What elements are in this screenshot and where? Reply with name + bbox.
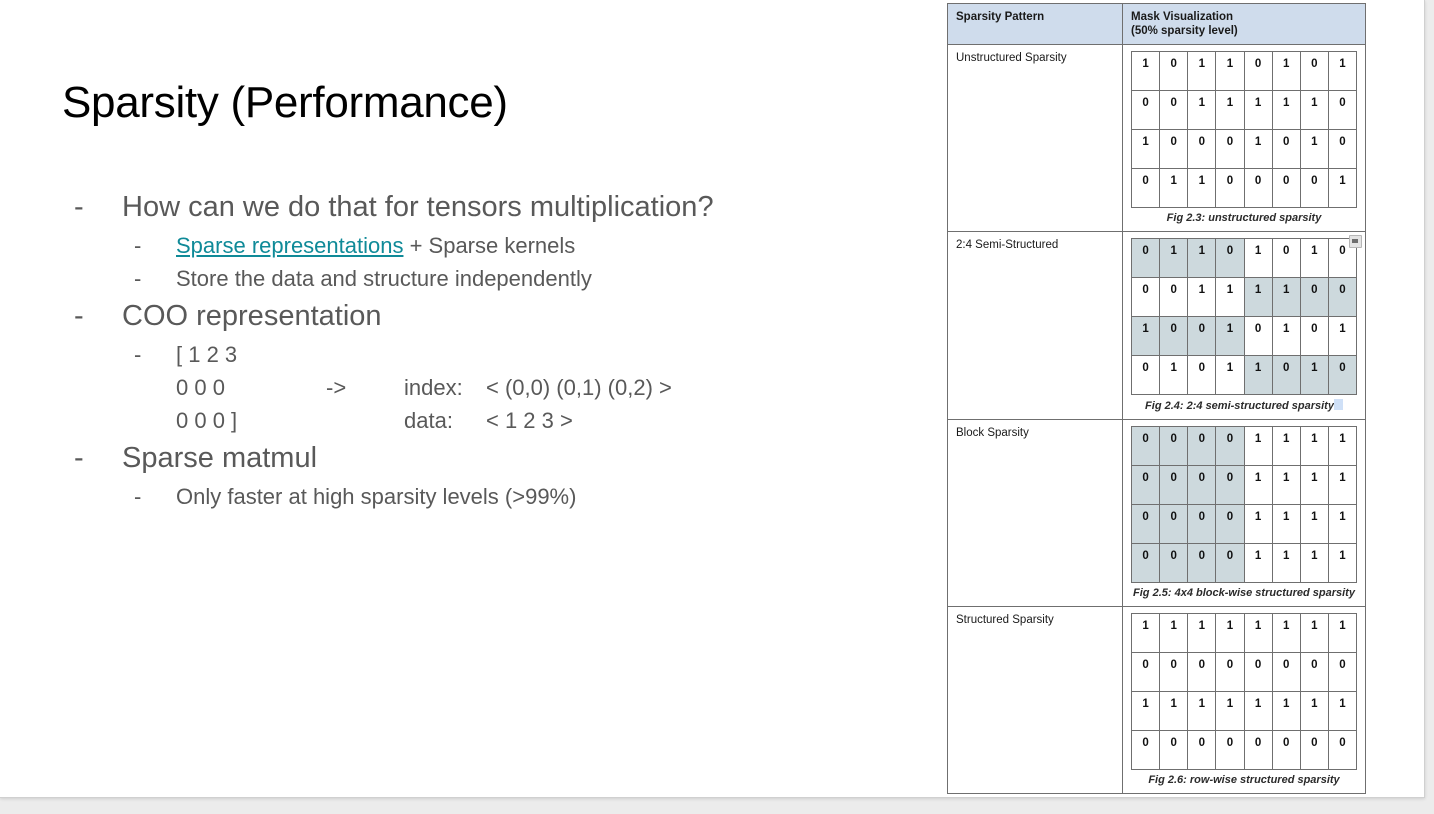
mask-cell-bit: 1 bbox=[1188, 91, 1216, 130]
mask-cell-bit: 0 bbox=[1328, 91, 1356, 130]
mask-matrix-row: 00000000 bbox=[1132, 653, 1357, 692]
mask-cell-bit: 0 bbox=[1300, 731, 1328, 770]
mask-cell-bit: 0 bbox=[1160, 91, 1188, 130]
pattern-name-cell: Unstructured Sparsity bbox=[948, 45, 1123, 232]
pattern-name-cell: Structured Sparsity bbox=[948, 607, 1123, 794]
mask-cell-bit: 1 bbox=[1272, 278, 1300, 317]
mask-cell-bit: 1 bbox=[1300, 427, 1328, 466]
mask-cell-bit: 1 bbox=[1188, 239, 1216, 278]
mask-cell-bit: 1 bbox=[1300, 130, 1328, 169]
mask-cell-bit: 1 bbox=[1244, 356, 1272, 395]
bullet-dash: - bbox=[74, 437, 122, 480]
mask-cell-bit: 1 bbox=[1272, 505, 1300, 544]
mask-cell-bit: 1 bbox=[1216, 278, 1244, 317]
bullet-dash: - bbox=[74, 295, 122, 338]
mask-cell-bit: 1 bbox=[1188, 52, 1216, 91]
coo-matrix-text: 0 0 0 ] bbox=[176, 404, 326, 437]
figure-caption-text: Fig 2.6: row-wise structured sparsity bbox=[1148, 774, 1339, 786]
mask-matrix-row: 00111100 bbox=[1132, 278, 1357, 317]
mask-cell-bit: 0 bbox=[1132, 653, 1160, 692]
mask-cell-bit: 0 bbox=[1160, 52, 1188, 91]
mask-cell-bit: 0 bbox=[1132, 731, 1160, 770]
mask-cell-bit: 0 bbox=[1300, 317, 1328, 356]
coo-value: < (0,0) (0,1) (0,2) > bbox=[486, 371, 672, 404]
mask-cell-bit: 0 bbox=[1272, 731, 1300, 770]
table-header-row: Sparsity Pattern Mask Visualization (50%… bbox=[948, 4, 1366, 45]
mask-matrix-row: 00001111 bbox=[1132, 466, 1357, 505]
mask-cell-bit: 1 bbox=[1272, 317, 1300, 356]
mask-cell-bit: 1 bbox=[1300, 239, 1328, 278]
mask-cell-bit: 0 bbox=[1300, 278, 1328, 317]
slide-left-pane: Sparsity (Performance) - How can we do t… bbox=[0, 0, 930, 797]
mask-matrix-row: 00001111 bbox=[1132, 544, 1357, 583]
coo-arrow bbox=[326, 338, 404, 371]
mask-cell-bit: 0 bbox=[1132, 169, 1160, 208]
mask-cell-bit: 0 bbox=[1216, 427, 1244, 466]
bullet-dash: - bbox=[74, 186, 122, 229]
mask-cell-bit: 0 bbox=[1160, 278, 1188, 317]
bullet-list: - How can we do that for tensors multipl… bbox=[62, 186, 922, 513]
mask-cell-bit: 0 bbox=[1160, 653, 1188, 692]
mask-matrix-row: 01101010 bbox=[1132, 239, 1357, 278]
mask-cell-bit: 1 bbox=[1244, 91, 1272, 130]
table-row: Structured Sparsity111111110000000011111… bbox=[948, 607, 1366, 794]
mask-cell-bit: 0 bbox=[1132, 544, 1160, 583]
mask-cell-bit: 1 bbox=[1160, 614, 1188, 653]
mask-cell-bit: 0 bbox=[1132, 278, 1160, 317]
sparsity-patterns-table: Sparsity Pattern Mask Visualization (50%… bbox=[947, 3, 1366, 794]
bullet-item: - COO representation bbox=[62, 295, 922, 338]
mask-cell-bit: 0 bbox=[1272, 130, 1300, 169]
mask-cell-bit: 0 bbox=[1216, 466, 1244, 505]
mask-matrix-row: 00001111 bbox=[1132, 427, 1357, 466]
sparsity-table-figure: Sparsity Pattern Mask Visualization (50%… bbox=[947, 3, 1333, 798]
mask-cell-bit: 0 bbox=[1132, 505, 1160, 544]
mask-cell-bit: 1 bbox=[1216, 356, 1244, 395]
bullet-dash: - bbox=[134, 480, 176, 513]
coo-row: 0 0 0 ] data: < 1 2 3 > bbox=[176, 404, 922, 437]
mask-cell-bit: 0 bbox=[1188, 466, 1216, 505]
mask-cell-bit: 1 bbox=[1300, 466, 1328, 505]
bullet-item: - Sparse matmul bbox=[62, 437, 922, 480]
mask-cell-bit: 0 bbox=[1272, 356, 1300, 395]
mask-cell-bit: 1 bbox=[1272, 466, 1300, 505]
mask-cell-bit: 1 bbox=[1328, 505, 1356, 544]
mask-matrix-row: 00111110 bbox=[1132, 91, 1357, 130]
header-mask-line1: Mask Visualization bbox=[1131, 10, 1357, 24]
bullet-item: - Only faster at high sparsity levels (>… bbox=[62, 480, 922, 513]
mask-cell-bit: 0 bbox=[1328, 653, 1356, 692]
bullet-text: How can we do that for tensors multiplic… bbox=[122, 186, 922, 229]
mask-cell-bit: 1 bbox=[1132, 130, 1160, 169]
mask-cell-bit: 0 bbox=[1188, 653, 1216, 692]
bullet-text: Sparse representations + Sparse kernels bbox=[176, 229, 922, 262]
mask-cell-bit: 1 bbox=[1272, 91, 1300, 130]
figure-caption-text: Fig 2.3: unstructured sparsity bbox=[1167, 212, 1322, 224]
figure-caption: Fig 2.4: 2:4 semi-structured sparsity bbox=[1131, 399, 1357, 413]
mask-matrix-row: 01011010 bbox=[1132, 356, 1357, 395]
mask-cell-bit: 1 bbox=[1188, 692, 1216, 731]
mask-cell-bit: 1 bbox=[1244, 427, 1272, 466]
coo-label: data: bbox=[404, 404, 486, 437]
mask-cell-bit: 1 bbox=[1328, 169, 1356, 208]
pattern-name-cell: Block Sparsity bbox=[948, 420, 1123, 607]
mask-cell-bit: 1 bbox=[1188, 614, 1216, 653]
mask-cell-bit: 0 bbox=[1272, 653, 1300, 692]
mask-visualization-cell: 00001111000011110000111100001111Fig 2.5:… bbox=[1123, 420, 1366, 607]
mask-cell-bit: 1 bbox=[1272, 614, 1300, 653]
figure-caption: Fig 2.3: unstructured sparsity bbox=[1131, 212, 1357, 225]
mask-matrix-row: 10010101 bbox=[1132, 317, 1357, 356]
mask-cell-bit: 1 bbox=[1132, 317, 1160, 356]
mask-bit-matrix: 11111111000000001111111100000000 bbox=[1131, 613, 1357, 770]
mask-cell-bit: 0 bbox=[1160, 130, 1188, 169]
mask-matrix-row: 00001111 bbox=[1132, 505, 1357, 544]
mask-cell-bit: 0 bbox=[1328, 731, 1356, 770]
mask-cell-bit: 1 bbox=[1132, 614, 1160, 653]
bullet-dash: - bbox=[134, 262, 176, 295]
bullet-item: - How can we do that for tensors multipl… bbox=[62, 186, 922, 229]
mask-cell-bit: 0 bbox=[1188, 505, 1216, 544]
table-row: Block Sparsity00001111000011110000111100… bbox=[948, 420, 1366, 607]
mask-cell-bit: 1 bbox=[1300, 614, 1328, 653]
mask-cell-bit: 0 bbox=[1160, 466, 1188, 505]
coo-row: 0 0 0 -> index: < (0,0) (0,1) (0,2) > bbox=[176, 371, 922, 404]
mask-cell-bit: 0 bbox=[1272, 239, 1300, 278]
mask-cell-bit: 1 bbox=[1160, 356, 1188, 395]
mask-matrix-row: 00000000 bbox=[1132, 731, 1357, 770]
mask-cell-bit: 0 bbox=[1244, 653, 1272, 692]
mask-cell-bit: 0 bbox=[1160, 427, 1188, 466]
mask-cell-bit: 1 bbox=[1300, 544, 1328, 583]
bullet-text-rest: + Sparse kernels bbox=[403, 233, 575, 258]
mask-cell-bit: 0 bbox=[1272, 169, 1300, 208]
bullet-text: Sparse matmul bbox=[122, 437, 922, 480]
mask-bit-matrix: 00001111000011110000111100001111 bbox=[1131, 426, 1357, 583]
mask-matrix-row: 11111111 bbox=[1132, 692, 1357, 731]
table-body: Unstructured Sparsity1011010100111110100… bbox=[948, 45, 1366, 794]
mask-cell-bit: 0 bbox=[1216, 731, 1244, 770]
mask-cell-bit: 0 bbox=[1328, 130, 1356, 169]
coo-label: index: bbox=[404, 371, 486, 404]
header-mask-line2: (50% sparsity level) bbox=[1131, 24, 1357, 38]
mask-cell-bit: 1 bbox=[1328, 614, 1356, 653]
mask-cell-bit: 0 bbox=[1132, 239, 1160, 278]
mask-cell-bit: 0 bbox=[1160, 317, 1188, 356]
bullet-item: - Store the data and structure independe… bbox=[62, 262, 922, 295]
mask-cell-bit: 1 bbox=[1244, 278, 1272, 317]
mask-cell-bit: 1 bbox=[1328, 317, 1356, 356]
mask-cell-bit: 1 bbox=[1216, 91, 1244, 130]
mask-cell-bit: 0 bbox=[1132, 427, 1160, 466]
mask-cell-bit: 0 bbox=[1216, 130, 1244, 169]
header-mask-visualization: Mask Visualization (50% sparsity level) bbox=[1123, 4, 1366, 45]
mask-cell-bit: 1 bbox=[1244, 505, 1272, 544]
bullet-dash: - bbox=[134, 229, 176, 262]
mask-cell-bit: 0 bbox=[1188, 544, 1216, 583]
text-selection-highlight bbox=[1334, 399, 1343, 410]
table-row: Unstructured Sparsity1011010100111110100… bbox=[948, 45, 1366, 232]
mask-cell-bit: 0 bbox=[1188, 731, 1216, 770]
scroll-chip-icon[interactable] bbox=[1349, 235, 1362, 248]
bullet-text: Store the data and structure independent… bbox=[176, 262, 922, 295]
mask-cell-bit: 1 bbox=[1132, 52, 1160, 91]
bullet-item: - Sparse representations + Sparse kernel… bbox=[62, 229, 922, 262]
coo-matrix-text: [ 1 2 3 bbox=[176, 338, 326, 371]
mask-cell-bit: 0 bbox=[1160, 731, 1188, 770]
mask-cell-bit: 0 bbox=[1216, 653, 1244, 692]
header-sparsity-pattern: Sparsity Pattern bbox=[948, 4, 1123, 45]
mask-bit-matrix: 10110101001111101000101001100001 bbox=[1131, 51, 1357, 208]
mask-cell-bit: 0 bbox=[1328, 356, 1356, 395]
mask-cell-bit: 1 bbox=[1160, 169, 1188, 208]
mask-cell-bit: 1 bbox=[1328, 692, 1356, 731]
mask-visualization-cell: 10110101001111101000101001100001Fig 2.3:… bbox=[1123, 45, 1366, 232]
mask-matrix-row: 10001010 bbox=[1132, 130, 1357, 169]
mask-matrix-row: 01100001 bbox=[1132, 169, 1357, 208]
bullet-dash: - bbox=[134, 338, 176, 371]
mask-cell-bit: 0 bbox=[1244, 317, 1272, 356]
mask-cell-bit: 1 bbox=[1188, 169, 1216, 208]
pattern-name-cell: 2:4 Semi-Structured bbox=[948, 232, 1123, 420]
mask-cell-bit: 1 bbox=[1300, 505, 1328, 544]
bullet-text: COO representation bbox=[122, 295, 922, 338]
mask-cell-bit: 1 bbox=[1272, 544, 1300, 583]
mask-cell-bit: 1 bbox=[1216, 692, 1244, 731]
mask-cell-bit: 1 bbox=[1244, 614, 1272, 653]
coo-row: [ 1 2 3 bbox=[176, 338, 922, 371]
mask-cell-bit: 1 bbox=[1328, 52, 1356, 91]
mask-cell-bit: 0 bbox=[1132, 356, 1160, 395]
mask-cell-bit: 1 bbox=[1272, 427, 1300, 466]
coo-label bbox=[404, 338, 486, 371]
mask-cell-bit: 1 bbox=[1272, 52, 1300, 91]
mask-cell-bit: 0 bbox=[1300, 169, 1328, 208]
mask-bit-matrix: 01101010001111001001010101011010 bbox=[1131, 238, 1357, 395]
coo-arrow bbox=[326, 404, 404, 437]
mask-cell-bit: 1 bbox=[1300, 91, 1328, 130]
figure-caption: Fig 2.5: 4x4 block-wise structured spars… bbox=[1131, 587, 1357, 600]
mask-cell-bit: 0 bbox=[1132, 91, 1160, 130]
mask-cell-bit: 1 bbox=[1244, 239, 1272, 278]
mask-cell-bit: 0 bbox=[1160, 505, 1188, 544]
mask-cell-bit: 0 bbox=[1188, 317, 1216, 356]
mask-cell-bit: 0 bbox=[1328, 278, 1356, 317]
table-head: Sparsity Pattern Mask Visualization (50%… bbox=[948, 4, 1366, 45]
figure-caption-text: Fig 2.4: 2:4 semi-structured sparsity bbox=[1145, 400, 1334, 412]
table-row: 2:4 Semi-Structured011010100011110010010… bbox=[948, 232, 1366, 420]
mask-cell-bit: 1 bbox=[1216, 317, 1244, 356]
mask-cell-bit: 0 bbox=[1188, 130, 1216, 169]
mask-cell-bit: 0 bbox=[1300, 52, 1328, 91]
mask-cell-bit: 0 bbox=[1244, 731, 1272, 770]
mask-cell-bit: 1 bbox=[1160, 692, 1188, 731]
mask-cell-bit: 1 bbox=[1328, 427, 1356, 466]
figure-caption: Fig 2.6: row-wise structured sparsity bbox=[1131, 774, 1357, 787]
mask-cell-bit: 1 bbox=[1244, 544, 1272, 583]
page-title: Sparsity (Performance) bbox=[62, 78, 508, 128]
mask-cell-bit: 1 bbox=[1328, 466, 1356, 505]
slide-canvas: Sparsity (Performance) - How can we do t… bbox=[0, 0, 1425, 798]
coo-value: < 1 2 3 > bbox=[486, 404, 573, 437]
mask-cell-bit: 1 bbox=[1272, 692, 1300, 731]
mask-cell-bit: 1 bbox=[1244, 130, 1272, 169]
mask-cell-bit: 0 bbox=[1244, 169, 1272, 208]
coo-example-block: - [ 1 2 3 0 0 0 -> index: < (0,0) (0,1) … bbox=[62, 338, 922, 437]
mask-visualization-cell: 11111111000000001111111100000000Fig 2.6:… bbox=[1123, 607, 1366, 794]
bullet-text: Only faster at high sparsity levels (>99… bbox=[176, 480, 922, 513]
coo-matrix-text: 0 0 0 bbox=[176, 371, 326, 404]
mask-matrix-row: 11111111 bbox=[1132, 614, 1357, 653]
sparse-representations-link[interactable]: Sparse representations bbox=[176, 233, 403, 258]
mask-cell-bit: 0 bbox=[1300, 653, 1328, 692]
mask-cell-bit: 0 bbox=[1188, 356, 1216, 395]
mask-cell-bit: 0 bbox=[1188, 427, 1216, 466]
mask-cell-bit: 1 bbox=[1300, 356, 1328, 395]
mask-cell-bit: 1 bbox=[1328, 544, 1356, 583]
mask-cell-bit: 1 bbox=[1300, 692, 1328, 731]
mask-cell-bit: 0 bbox=[1216, 505, 1244, 544]
mask-cell-bit: 0 bbox=[1216, 544, 1244, 583]
coo-lines: [ 1 2 3 0 0 0 -> index: < (0,0) (0,1) (0… bbox=[176, 338, 922, 437]
mask-cell-bit: 0 bbox=[1132, 466, 1160, 505]
figure-caption-text: Fig 2.5: 4x4 block-wise structured spars… bbox=[1133, 587, 1355, 599]
mask-cell-bit: 1 bbox=[1216, 52, 1244, 91]
mask-cell-bit: 0 bbox=[1160, 544, 1188, 583]
mask-matrix-row: 10110101 bbox=[1132, 52, 1357, 91]
mask-cell-bit: 1 bbox=[1188, 278, 1216, 317]
mask-cell-bit: 1 bbox=[1132, 692, 1160, 731]
mask-cell-bit: 1 bbox=[1216, 614, 1244, 653]
mask-cell-bit: 0 bbox=[1216, 169, 1244, 208]
mask-cell-bit: 1 bbox=[1244, 466, 1272, 505]
mask-cell-bit: 0 bbox=[1216, 239, 1244, 278]
mask-visualization-cell: 01101010001111001001010101011010Fig 2.4:… bbox=[1123, 232, 1366, 420]
coo-arrow: -> bbox=[326, 371, 404, 404]
mask-cell-bit: 1 bbox=[1160, 239, 1188, 278]
mask-cell-bit: 1 bbox=[1244, 692, 1272, 731]
mask-cell-bit: 0 bbox=[1244, 52, 1272, 91]
